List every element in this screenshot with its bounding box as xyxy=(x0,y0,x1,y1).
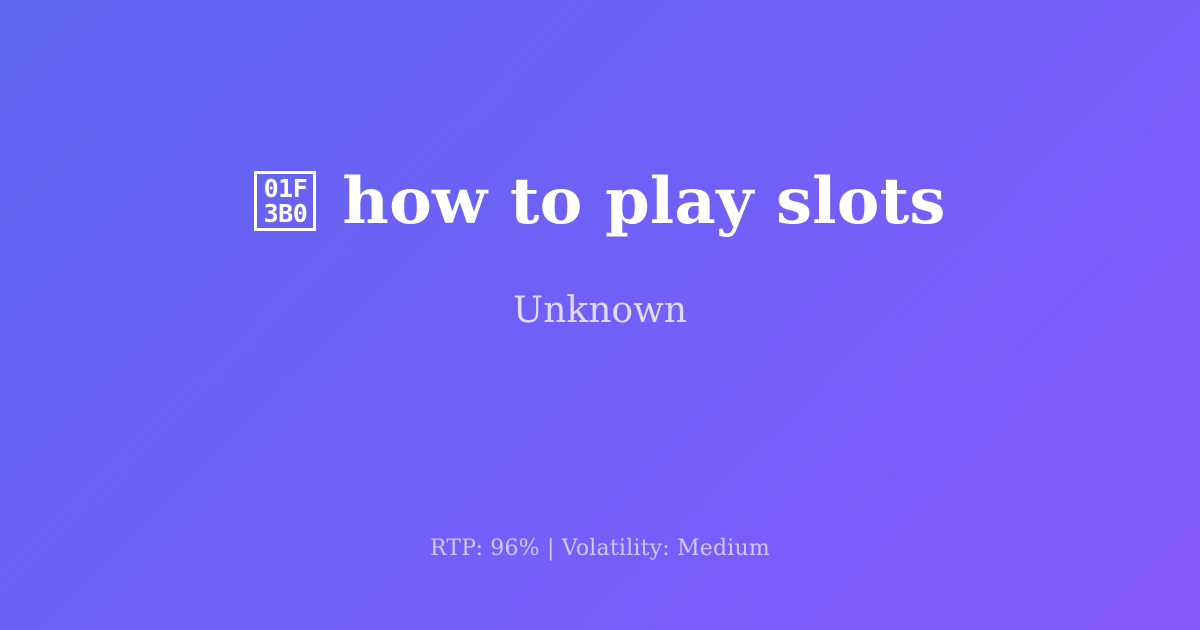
hero-block: 01F 3B0 how to play slots Unknown xyxy=(0,0,1200,498)
subtitle-provider: Unknown xyxy=(513,289,687,332)
tofu-codepoint-bottom: 3B0 xyxy=(264,201,308,227)
footer-stats: RTP: 96% | Volatility: Medium xyxy=(0,535,1200,563)
page-title: 01F 3B0 how to play slots xyxy=(254,166,945,238)
page-title-text: how to play slots xyxy=(342,166,945,238)
tofu-codepoint-top: 01F xyxy=(264,176,308,202)
slot-machine-emoji-icon: 01F 3B0 xyxy=(254,171,316,231)
og-share-card: 01F 3B0 how to play slots Unknown RTP: 9… xyxy=(0,0,1200,630)
